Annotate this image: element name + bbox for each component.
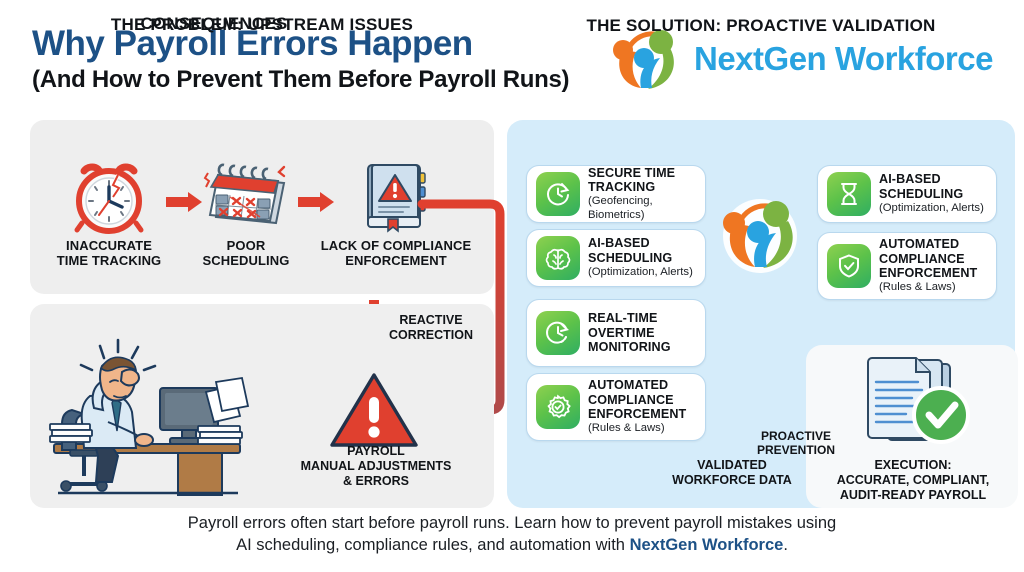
rulebook-warning-icon xyxy=(312,155,480,239)
problem-item-label: POOR SCHEDULING xyxy=(182,239,310,268)
warning-triangle-label: PAYROLL MANUAL ADJUSTMENTS & ERRORS xyxy=(286,444,466,488)
stressed-office-worker-icon xyxy=(48,338,248,498)
card-subtitle: (Optimization, Alerts) xyxy=(879,202,984,216)
card-title: AI-BASED SCHEDULING xyxy=(879,172,984,201)
problem-item-inaccurate-time-tracking: INACCURATE TIME TRACKING xyxy=(40,155,178,268)
alarm-clock-broken-icon xyxy=(40,155,178,239)
warning-triangle-icon xyxy=(327,369,421,451)
solution-card-right-ai-based-scheduling[interactable]: AI-BASED SCHEDULING (Optimization, Alert… xyxy=(817,165,997,223)
card-title: AI-BASED SCHEDULING xyxy=(588,236,693,265)
validated-workforce-data-label: VALIDATED WORKFORCE DATA xyxy=(648,458,816,488)
reactive-correction-label: REACTIVE CORRECTION xyxy=(376,313,486,343)
proactive-prevention-label: PROACTIVE PREVENTION xyxy=(744,430,848,458)
documents-check-icon xyxy=(862,356,974,454)
solution-card-real-time-overtime-monitoring[interactable]: REAL-TIME OVERTIME MONITORING xyxy=(526,299,706,367)
solution-card-right-automated-compliance[interactable]: AUTOMATED COMPLIANCE ENFORCEMENT (Rules … xyxy=(817,232,997,300)
problem-item-lack-of-compliance: LACK OF COMPLIANCE ENFORCEMENT xyxy=(312,155,480,268)
footer-line-1: Payroll errors often start before payrol… xyxy=(188,514,836,532)
footer-text: Payroll errors often start before payrol… xyxy=(0,512,1024,557)
footer-line-2-before: AI scheduling, compliance rules, and aut… xyxy=(236,536,629,554)
brand-name: NextGen Workforce xyxy=(694,40,993,78)
footer-brand-link[interactable]: NextGen Workforce xyxy=(630,536,784,554)
card-subtitle: (Geofencing, Biometrics) xyxy=(588,195,696,222)
calendar-errors-icon xyxy=(182,155,310,239)
card-subtitle: (Rules & Laws) xyxy=(879,281,977,295)
card-title: AUTOMATED COMPLIANCE ENFORCEMENT xyxy=(588,378,686,421)
gear-check-icon xyxy=(536,385,580,429)
solution-card-ai-based-scheduling[interactable]: AI-BASED SCHEDULING (Optimization, Alert… xyxy=(526,229,706,287)
shield-check-icon xyxy=(827,244,871,288)
problem-item-label: INACCURATE TIME TRACKING xyxy=(40,239,178,268)
clock-refresh-icon xyxy=(536,172,580,216)
hourglass-icon xyxy=(827,172,871,216)
page-subtitle: (And How to Prevent Them Before Payroll … xyxy=(32,66,569,94)
hub-nextgen-people-logo-icon xyxy=(718,196,802,276)
solution-card-secure-time-tracking[interactable]: SECURE TIME TRACKING (Geofencing, Biomet… xyxy=(526,165,706,223)
card-title: SECURE TIME TRACKING xyxy=(588,166,696,195)
problem-item-poor-scheduling: POOR SCHEDULING xyxy=(182,155,310,268)
solution-heading: THE SOLUTION: PROACTIVE VALIDATION xyxy=(507,16,1015,36)
card-title: AUTOMATED COMPLIANCE ENFORCEMENT xyxy=(879,237,977,280)
problem-item-label: LACK OF COMPLIANCE ENFORCEMENT xyxy=(312,239,480,268)
clock-dashed-icon xyxy=(536,311,580,355)
card-subtitle: (Rules & Laws) xyxy=(588,422,686,436)
infographic-root: Why Payroll Errors Happen (And How to Pr… xyxy=(0,0,1024,572)
brain-icon xyxy=(536,236,580,280)
execution-label: EXECUTION: ACCURATE, COMPLIANT, AUDIT-RE… xyxy=(816,458,1010,502)
card-title: REAL-TIME OVERTIME MONITORING xyxy=(588,311,671,354)
consequences-heading: CONSEQUENCES xyxy=(34,14,394,34)
card-subtitle: (Optimization, Alerts) xyxy=(588,266,693,280)
footer-line-2-after: . xyxy=(783,536,788,554)
solution-card-automated-compliance-enforcement[interactable]: AUTOMATED COMPLIANCE ENFORCEMENT (Rules … xyxy=(526,373,706,441)
